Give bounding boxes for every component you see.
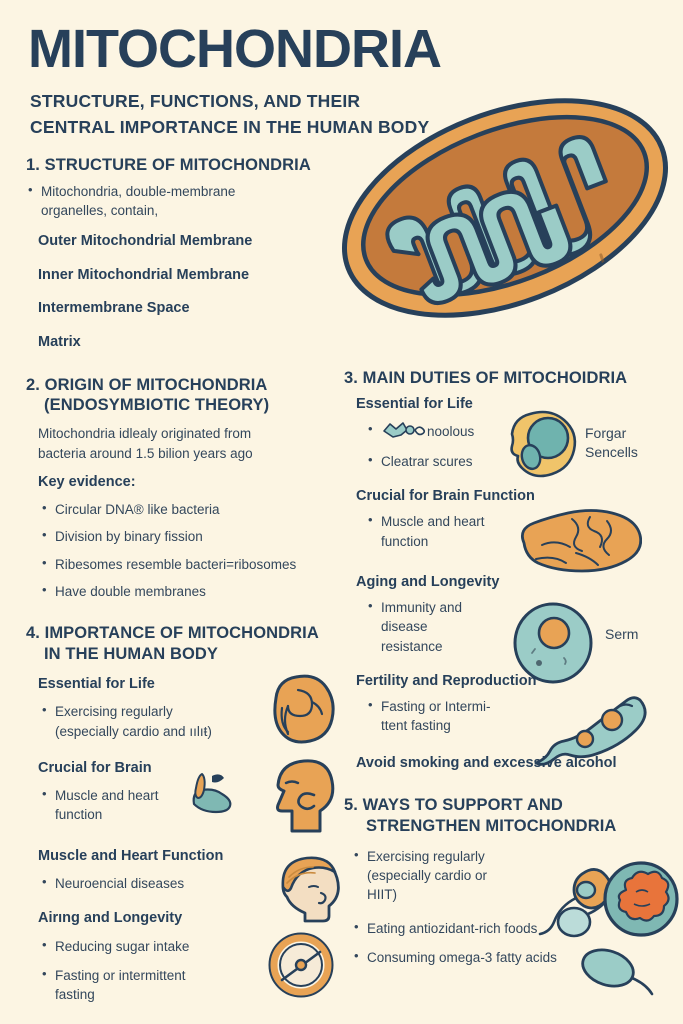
section-2-heading-line-2: (ENDOSYMBIOTIC THEORY)	[26, 395, 356, 416]
section-1-structure: 1. STRUCTURE OF MITOCHONDRIA Mitochondri…	[26, 155, 356, 353]
forgar-sencells-label: Forgar Sencells	[585, 424, 638, 461]
section-3-g3-line-3: resistance	[381, 639, 443, 654]
section-5-heading-line-1: 5. WAYS TO SUPPORT AND	[344, 795, 678, 816]
section-3-heading: 3. MAIN DUTIES OF MITOCHOIDRIA	[344, 368, 678, 389]
section-4-g4-line-1: Fasting or intermittent	[55, 968, 186, 983]
subtitle-line-2: CENTRAL IMPORTANCE IN THE HUMAN BODY	[30, 114, 429, 140]
section-2-heading-line-1: 2. ORIGIN OF MITOCHONDRIA	[26, 375, 356, 396]
section-5-item-1-line-2: (especially cardio or	[367, 868, 487, 883]
heart-leaf-icon	[186, 770, 240, 819]
section-3-g4-line-2: ttent fasting	[381, 718, 451, 733]
section-5-item-1-line-3: HIIT)	[367, 887, 397, 902]
structure-item-outer-membrane: Outer Mitochondrial Membrane	[26, 232, 356, 252]
sperm-cell-icon	[528, 694, 654, 773]
section-4-g2-line-1: Muscle and heart	[55, 788, 159, 803]
head-profile-icon	[258, 755, 338, 838]
section-5-item-1-line-1: Exercising regularly	[367, 849, 485, 864]
section-2-evidence-list: Circular DNA® like bacteria Division by …	[26, 500, 356, 601]
section-4-heading-line-2: IN THE HUMAN BODY	[26, 644, 356, 665]
section-3-g2-line-1: Muscle and heart	[381, 514, 485, 529]
section-3-g4-line-1: Fasting or Intermi-	[381, 699, 491, 714]
sperm-small-icon	[578, 948, 668, 1003]
serm-label: Serm	[605, 625, 638, 644]
section-3-g3-line-2: disease	[381, 619, 428, 634]
section-5-heading-line-2: STRENGTHEN MITOCHONDRIA	[344, 816, 678, 837]
cell-with-nucleus-icon	[502, 404, 580, 487]
list-item: Mitochondria, double-membrane organelles…	[26, 182, 356, 220]
section-3-group-2-title: Crucial for Brain Function	[344, 487, 678, 507]
brain-icon	[512, 505, 642, 582]
section-4-heading-line-1: 4. IMPORTANCE OF MITOCHONDRIA	[26, 623, 356, 644]
forgar-sencells-line-1: Forgar	[585, 424, 638, 443]
structure-item-matrix: Matrix	[26, 333, 356, 353]
section-2-intro-line-1: Mitochondria idlealy originated from	[26, 424, 356, 443]
section-4-g4-line-2: fasting	[55, 987, 95, 1002]
infographic-poster: MITOCHONDRIA STRUCTURE, FUNCTIONS, AND T…	[0, 0, 683, 1024]
section-4-g1-line-1: Exercising regularly	[55, 704, 173, 719]
scribble-organelle-icon	[381, 421, 427, 444]
structure-item-intermembrane-space: Intermembrane Space	[26, 299, 356, 319]
clock-icon	[266, 930, 336, 1005]
section-2-origin: 2. ORIGIN OF MITOCHONDRIA (ENDOSYMBIOTIC…	[26, 375, 356, 601]
list-item: Division by binary fission	[40, 527, 356, 546]
page-title: MITOCHONDRIA	[28, 22, 441, 76]
egg-cell-orange-icon	[600, 858, 682, 945]
section-2-evidence-label: Key evidence:	[26, 473, 356, 493]
section-1-intro-line-1: Mitochondria, double-membrane	[41, 184, 235, 199]
subtitle-line-1: STRUCTURE, FUNCTIONS, AND THEIR	[30, 88, 429, 114]
list-item: Have double membranes	[40, 582, 356, 601]
page-subtitle: STRUCTURE, FUNCTIONS, AND THEIR CENTRAL …	[30, 88, 429, 141]
section-3-g1-item-1: noolous	[427, 424, 474, 439]
section-2-intro-line-2: bacteria around 1.5 bilion years ago	[26, 444, 356, 463]
muscle-blob-icon	[262, 672, 336, 751]
egg-cell-icon	[510, 600, 596, 691]
section-4-g1-line-2: (especially cardio and ıılıŧ)	[55, 724, 212, 739]
section-3-g3-line-1: Immunity and	[381, 600, 462, 615]
list-item: Circular DNA® like bacteria	[40, 500, 356, 519]
section-1-heading: 1. STRUCTURE OF MITOCHONDRIA	[26, 155, 356, 176]
woman-head-icon	[265, 855, 345, 934]
section-4-g2-line-2: function	[55, 807, 102, 822]
section-1-intro-list: Mitochondria, double-membrane organelles…	[26, 182, 356, 220]
structure-item-inner-membrane: Inner Mitochondrial Membrane	[26, 266, 356, 286]
forgar-sencells-line-2: Sencells	[585, 443, 638, 462]
section-1-intro-line-2: organelles, contain,	[41, 203, 158, 218]
list-item: Ribesomes resemble bacteri=ribosomes	[40, 555, 356, 574]
section-3-g2-line-2: function	[381, 534, 428, 549]
